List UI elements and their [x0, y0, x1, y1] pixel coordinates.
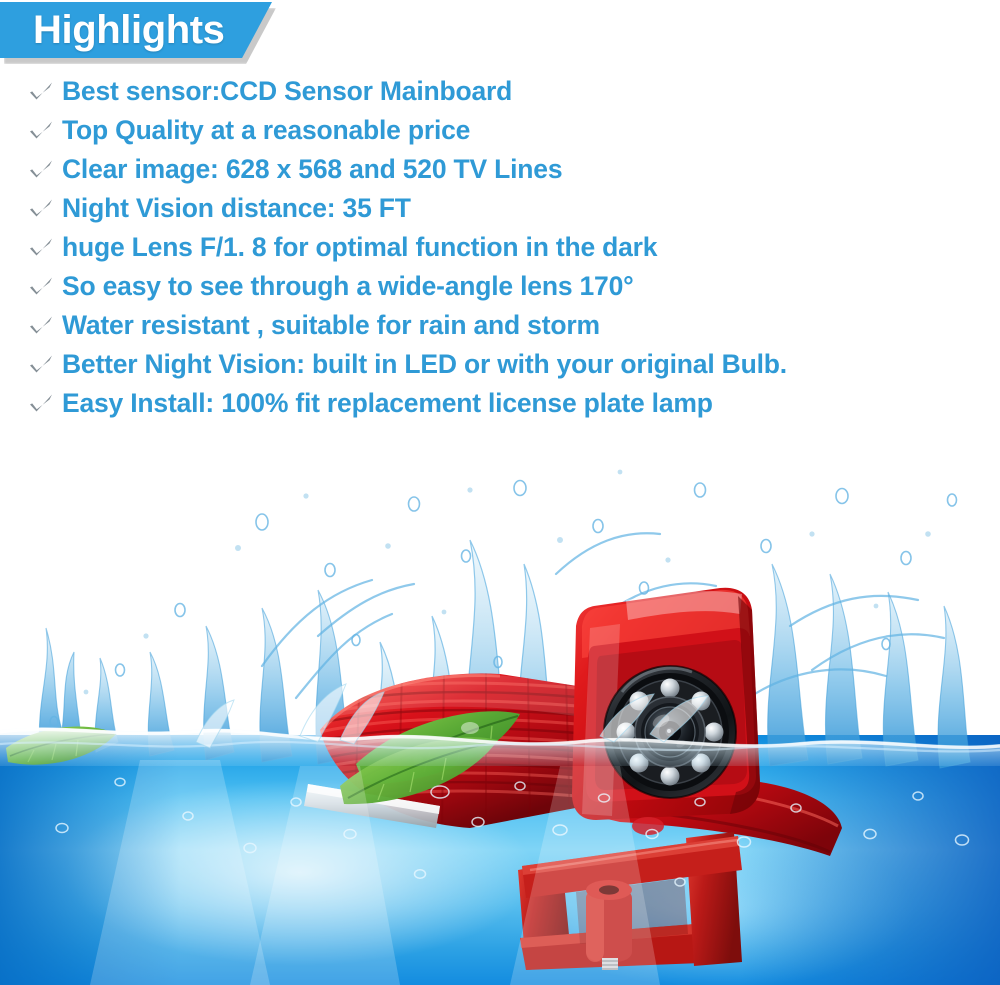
list-item-label: Top Quality at a reasonable price — [62, 111, 470, 150]
bracket-post — [586, 880, 632, 962]
list-item-label: Clear image: 628 x 568 and 520 TV Lines — [62, 150, 562, 189]
check-mark-icon — [28, 313, 54, 339]
list-item-label: Water resistant , suitable for rain and … — [62, 306, 600, 345]
list-item: Clear image: 628 x 568 and 520 TV Lines — [0, 150, 1000, 189]
banner-title: Highlights — [33, 3, 225, 57]
mounting-bracket — [518, 832, 742, 970]
product-photo — [0, 430, 1000, 985]
list-item-label: So easy to see through a wide-angle lens… — [62, 267, 634, 306]
product-highlights-page: Highlights Best sensor:CCD Sensor Mainbo… — [0, 0, 1000, 985]
list-item: Night Vision distance: 35 FT — [0, 189, 1000, 228]
check-mark-icon — [28, 118, 54, 144]
list-item: huge Lens F/1. 8 for optimal function in… — [0, 228, 1000, 267]
check-mark-icon — [28, 274, 54, 300]
list-item-label: Easy Install: 100% fit replacement licen… — [62, 384, 713, 423]
list-item-label: Better Night Vision: built in LED or wit… — [62, 345, 787, 384]
highlights-banner: Highlights — [0, 2, 290, 64]
list-item-label: huge Lens F/1. 8 for optimal function in… — [62, 228, 657, 267]
list-item-label: Best sensor:CCD Sensor Mainboard — [62, 72, 512, 111]
check-mark-icon — [28, 79, 54, 105]
list-item: Better Night Vision: built in LED or wit… — [0, 345, 1000, 384]
list-item: Top Quality at a reasonable price — [0, 111, 1000, 150]
check-mark-icon — [28, 235, 54, 261]
check-mark-icon — [28, 391, 54, 417]
water-shade-left — [0, 735, 180, 985]
highlights-list: Best sensor:CCD Sensor Mainboard Top Qua… — [0, 72, 1000, 462]
list-item: Best sensor:CCD Sensor Mainboard — [0, 72, 1000, 111]
list-item: Water resistant , suitable for rain and … — [0, 306, 1000, 345]
list-item: So easy to see through a wide-angle lens… — [0, 267, 1000, 306]
check-mark-icon — [28, 196, 54, 222]
check-mark-icon — [28, 352, 54, 378]
brake-light-camera — [290, 570, 850, 970]
list-item: Easy Install: 100% fit replacement licen… — [0, 384, 1000, 423]
camera-lens-assembly — [604, 666, 736, 798]
check-mark-icon — [28, 157, 54, 183]
list-item-label: Night Vision distance: 35 FT — [62, 189, 411, 228]
